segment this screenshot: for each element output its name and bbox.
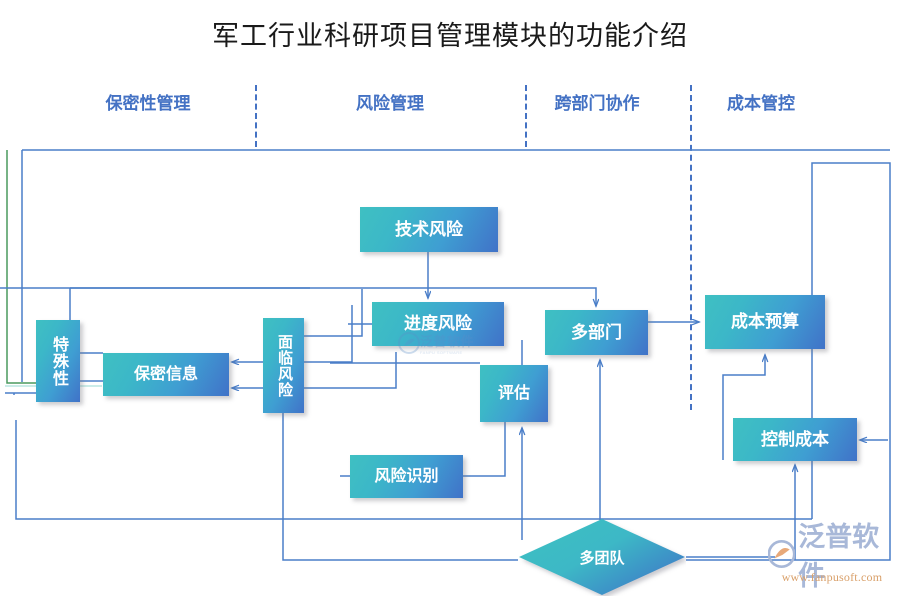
- node-tezhuxing[interactable]: 特殊性: [36, 320, 80, 402]
- node-baomixinxi[interactable]: 保密信息: [103, 353, 229, 396]
- watermark-sub: FANPU SOFTWARE: [420, 350, 474, 355]
- diagram-canvas: 军工行业科研项目管理模块的功能介绍 保密性管理风险管理跨部门协作成本管控: [0, 0, 900, 600]
- column-divider-1: [525, 85, 527, 147]
- wire-shibie-pinggu: [463, 422, 505, 476]
- node-kongzhichengben[interactable]: 控制成本: [733, 418, 857, 461]
- watermark-center: 泛普软件 FANPU SOFTWARE: [398, 326, 516, 360]
- column-divider-0: [255, 85, 257, 147]
- wire-rail-to-duobumen: [0, 288, 596, 306]
- node-fengxianshibie[interactable]: 风险识别: [350, 455, 463, 498]
- column-header-2: 跨部门协作: [555, 89, 640, 114]
- node-mianlinfengxian[interactable]: 面临风险: [263, 318, 304, 413]
- wire-right-frame: [686, 163, 890, 560]
- column-header-1: 风险管理: [356, 89, 424, 114]
- wire-mianlin-right-2: [304, 352, 396, 388]
- watermark-name: 泛普软件: [420, 331, 474, 350]
- column-header-3: 成本管控: [727, 89, 795, 114]
- node-jishufengxian[interactable]: 技术风险: [360, 207, 498, 252]
- column-divider-2: [690, 85, 692, 410]
- column-header-0: 保密性管理: [106, 89, 191, 114]
- node-duobumen[interactable]: 多部门: [545, 310, 648, 355]
- node-chengbenyusuan[interactable]: 成本预算: [705, 295, 825, 349]
- node-duotuandui[interactable]: 多团队: [518, 518, 686, 596]
- brand-url: www.fanpusoft.com: [768, 570, 896, 585]
- node-pinggu[interactable]: 评估: [480, 365, 548, 422]
- brand-logo: 泛普软件 www.fanpusoft.com: [768, 536, 896, 592]
- watermark-logo-icon: [398, 332, 420, 354]
- wire-mianlin-right-up: [304, 305, 352, 362]
- node-label-duotuandui: 多团队: [518, 518, 686, 596]
- wire-mianlin-right-up2: [304, 289, 362, 336]
- brand-mark-icon: [768, 539, 795, 569]
- brand-row: 泛普软件: [768, 536, 896, 572]
- page-title: 军工行业科研项目管理模块的功能介绍: [0, 14, 900, 53]
